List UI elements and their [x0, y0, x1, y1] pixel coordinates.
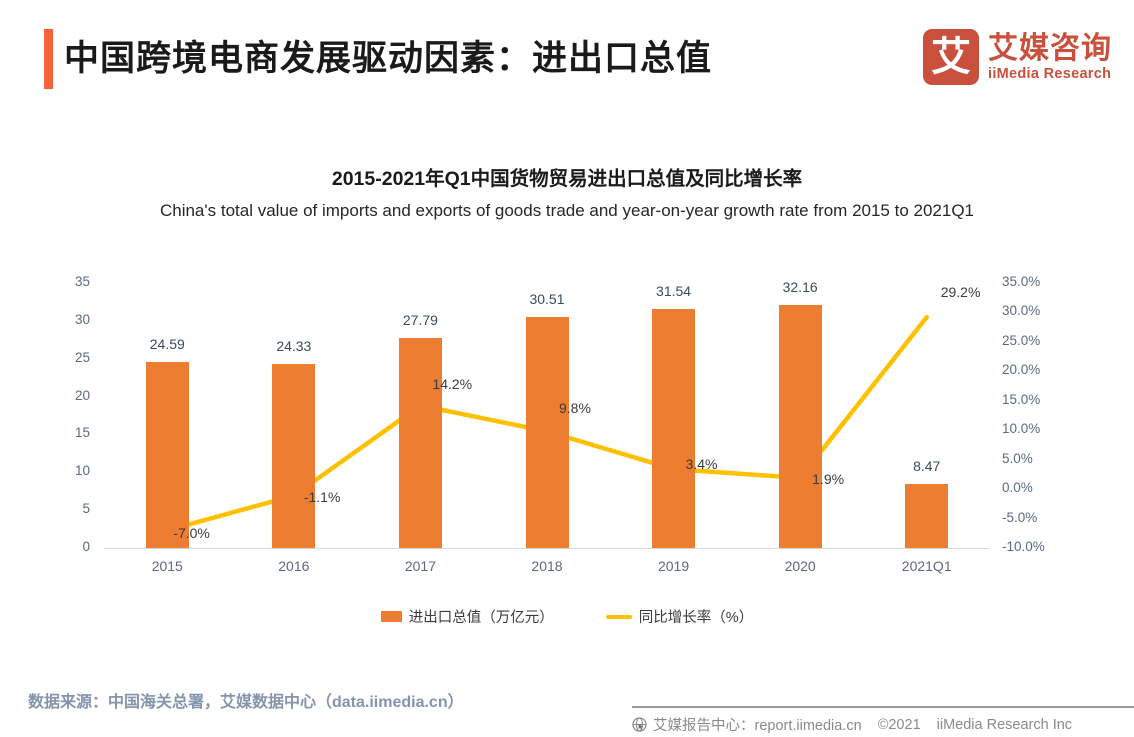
y-axis-tick-label: 0 — [40, 539, 90, 554]
bar-2017[interactable] — [399, 338, 442, 548]
line-point-label: 1.9% — [812, 471, 844, 487]
bar-value-label: 31.54 — [629, 283, 719, 299]
footer-company: iiMedia Research Inc — [937, 717, 1072, 733]
legend-bar-swatch-icon — [381, 611, 402, 622]
y-axis-tick-label: 35 — [40, 274, 90, 289]
x-axis-category-label: 2017 — [370, 558, 470, 574]
x-axis-line — [104, 548, 990, 549]
y-axis-tick-label: 5 — [40, 501, 90, 516]
chart-title: 2015-2021年Q1中国货物贸易进出口总值及同比增长率 — [0, 162, 1134, 191]
bar-2020[interactable] — [779, 305, 822, 548]
y2-axis-tick-label: 0.0% — [1002, 480, 1033, 495]
y-axis-tick-label: 30 — [40, 312, 90, 327]
line-point-label: 9.8% — [559, 400, 591, 416]
x-axis-category-label: 2019 — [624, 558, 724, 574]
bar-2019[interactable] — [652, 309, 695, 548]
bar-value-label: 27.79 — [375, 312, 465, 328]
bar-2021Q1[interactable] — [905, 484, 948, 548]
legend-item-bar[interactable]: 进出口总值（万亿元） — [381, 606, 554, 627]
x-axis-category-label: 2020 — [750, 558, 850, 574]
legend-item-line[interactable]: 同比增长率（%） — [606, 606, 753, 627]
bar-value-label: 24.33 — [249, 338, 339, 354]
y2-axis-tick-label: 25.0% — [1002, 333, 1040, 348]
y2-axis-tick-label: 35.0% — [1002, 274, 1040, 289]
y-axis-tick-label: 15 — [40, 425, 90, 440]
bar-2016[interactable] — [272, 364, 315, 548]
footer-bar: 艾媒报告中心：report.iimedia.cn ©2021 iiMedia R… — [632, 712, 1134, 737]
iimedia-logo: 艾 艾媒咨询 iiMedia Research — [923, 26, 1112, 88]
footer-copyright: ©2021 — [878, 717, 921, 733]
legend-bar-label: 进出口总值（万亿元） — [409, 606, 554, 627]
y2-axis-tick-label: 5.0% — [1002, 451, 1033, 466]
logo-mark-icon: 艾 — [923, 29, 979, 85]
legend-line-swatch-icon — [606, 615, 632, 619]
x-axis-category-label: 2015 — [117, 558, 217, 574]
y2-axis-tick-label: 20.0% — [1002, 362, 1040, 377]
growth-rate-line[interactable] — [167, 317, 926, 530]
y2-axis-tick-label: -5.0% — [1002, 510, 1037, 525]
line-point-label: 3.4% — [686, 456, 718, 472]
bar-value-label: 32.16 — [755, 279, 845, 295]
y2-axis-tick-label: 30.0% — [1002, 303, 1040, 318]
footer-report-center: 艾媒报告中心：report.iimedia.cn — [653, 714, 862, 735]
y2-axis-tick-label: -10.0% — [1002, 539, 1045, 554]
logo-text: 艾媒咨询 iiMedia Research — [988, 32, 1112, 83]
source-note: 数据来源：中国海关总署，艾媒数据中心（data.iimedia.cn） — [28, 688, 464, 712]
y-axis-tick-label: 20 — [40, 388, 90, 403]
line-point-label: 14.2% — [432, 376, 472, 392]
line-point-label: -7.0% — [173, 525, 210, 541]
bar-2018[interactable] — [526, 317, 569, 548]
chart-subtitle: China's total value of imports and expor… — [0, 201, 1134, 221]
x-axis-category-label: 2018 — [497, 558, 597, 574]
y-axis-tick-label: 25 — [40, 350, 90, 365]
legend-line-label: 同比增长率（%） — [639, 606, 753, 627]
bar-2015[interactable] — [146, 362, 189, 548]
y-axis-tick-label: 10 — [40, 463, 90, 478]
globe-icon — [632, 717, 647, 732]
logo-name-en: iiMedia Research — [988, 65, 1112, 83]
chart-legend: 进出口总值（万亿元） 同比增长率（%） — [0, 606, 1134, 627]
y2-axis-tick-label: 10.0% — [1002, 421, 1040, 436]
line-point-label: 29.2% — [941, 284, 981, 300]
x-axis-category-label: 2016 — [244, 558, 344, 574]
bar-value-label: 24.59 — [122, 336, 212, 352]
footer-divider — [632, 706, 1134, 708]
bar-value-label: 30.51 — [502, 291, 592, 307]
y2-axis-tick-label: 15.0% — [1002, 392, 1040, 407]
bar-value-label: 8.47 — [882, 458, 972, 474]
x-axis-category-label: 2021Q1 — [877, 558, 977, 574]
title-accent-bar — [44, 29, 53, 89]
page-header: 中国跨境电商发展驱动因素：进出口总值 艾 艾媒咨询 iiMedia Resear… — [0, 0, 1134, 112]
logo-name-cn: 艾媒咨询 — [988, 32, 1112, 65]
page-title: 中国跨境电商发展驱动因素：进出口总值 — [64, 30, 712, 88]
line-point-label: -1.1% — [304, 489, 341, 505]
